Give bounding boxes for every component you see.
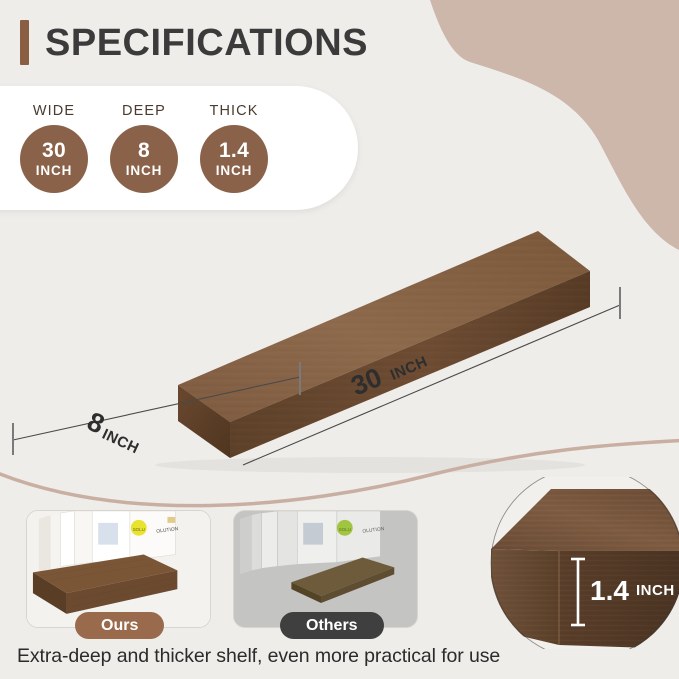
svg-text:SOLU: SOLU (133, 527, 145, 532)
spec-unit-deep: INCH (126, 164, 163, 178)
specifications-card: WIDE 30 INCH DEEP 8 INCH THICK 1.4 INCH (0, 86, 358, 210)
spec-circle-thick: 1.4 INCH (200, 125, 268, 193)
spec-label-deep: DEEP (122, 103, 166, 119)
others-scene: SOLU OLUTION (234, 511, 417, 628)
spec-value-wide: 30 (42, 140, 66, 161)
infographic-page: SPECIFICATIONS WIDE 30 INCH DEEP 8 INCH … (0, 0, 679, 679)
detail-value: 1.4 (590, 575, 629, 606)
spec-label-wide: WIDE (33, 103, 75, 119)
bottom-caption: Extra-deep and thicker shelf, even more … (17, 645, 500, 668)
spec-row: WIDE 30 INCH DEEP 8 INCH THICK 1.4 INCH (20, 86, 268, 210)
ours-scene: SOLU OLUTION (27, 511, 210, 628)
title-accent-bar (20, 20, 29, 65)
detail-unit: INCH (636, 582, 675, 599)
spec-circle-deep: 8 INCH (110, 125, 178, 193)
comparison-panel-others: SOLU OLUTION (233, 510, 418, 628)
spec-item-deep: DEEP 8 INCH (110, 103, 178, 193)
spec-label-thick: THICK (210, 103, 259, 119)
spec-unit-wide: INCH (36, 164, 73, 178)
spec-item-wide: WIDE 30 INCH (20, 103, 88, 193)
badge-ours: Ours (75, 612, 164, 639)
spec-value-thick: 1.4 (219, 140, 249, 161)
spec-circle-wide: 30 INCH (20, 125, 88, 193)
page-title: SPECIFICATIONS (45, 24, 368, 62)
badge-others: Others (280, 612, 384, 639)
spec-item-thick: THICK 1.4 INCH (200, 103, 268, 193)
page-header: SPECIFICATIONS (20, 20, 368, 65)
thickness-detail-circle: 1.4 INCH (489, 477, 679, 649)
comparison-panel-ours: SOLU OLUTION (26, 510, 211, 628)
svg-text:SOLU: SOLU (339, 527, 351, 532)
spec-unit-thick: INCH (216, 164, 253, 178)
spec-value-deep: 8 (138, 140, 150, 161)
